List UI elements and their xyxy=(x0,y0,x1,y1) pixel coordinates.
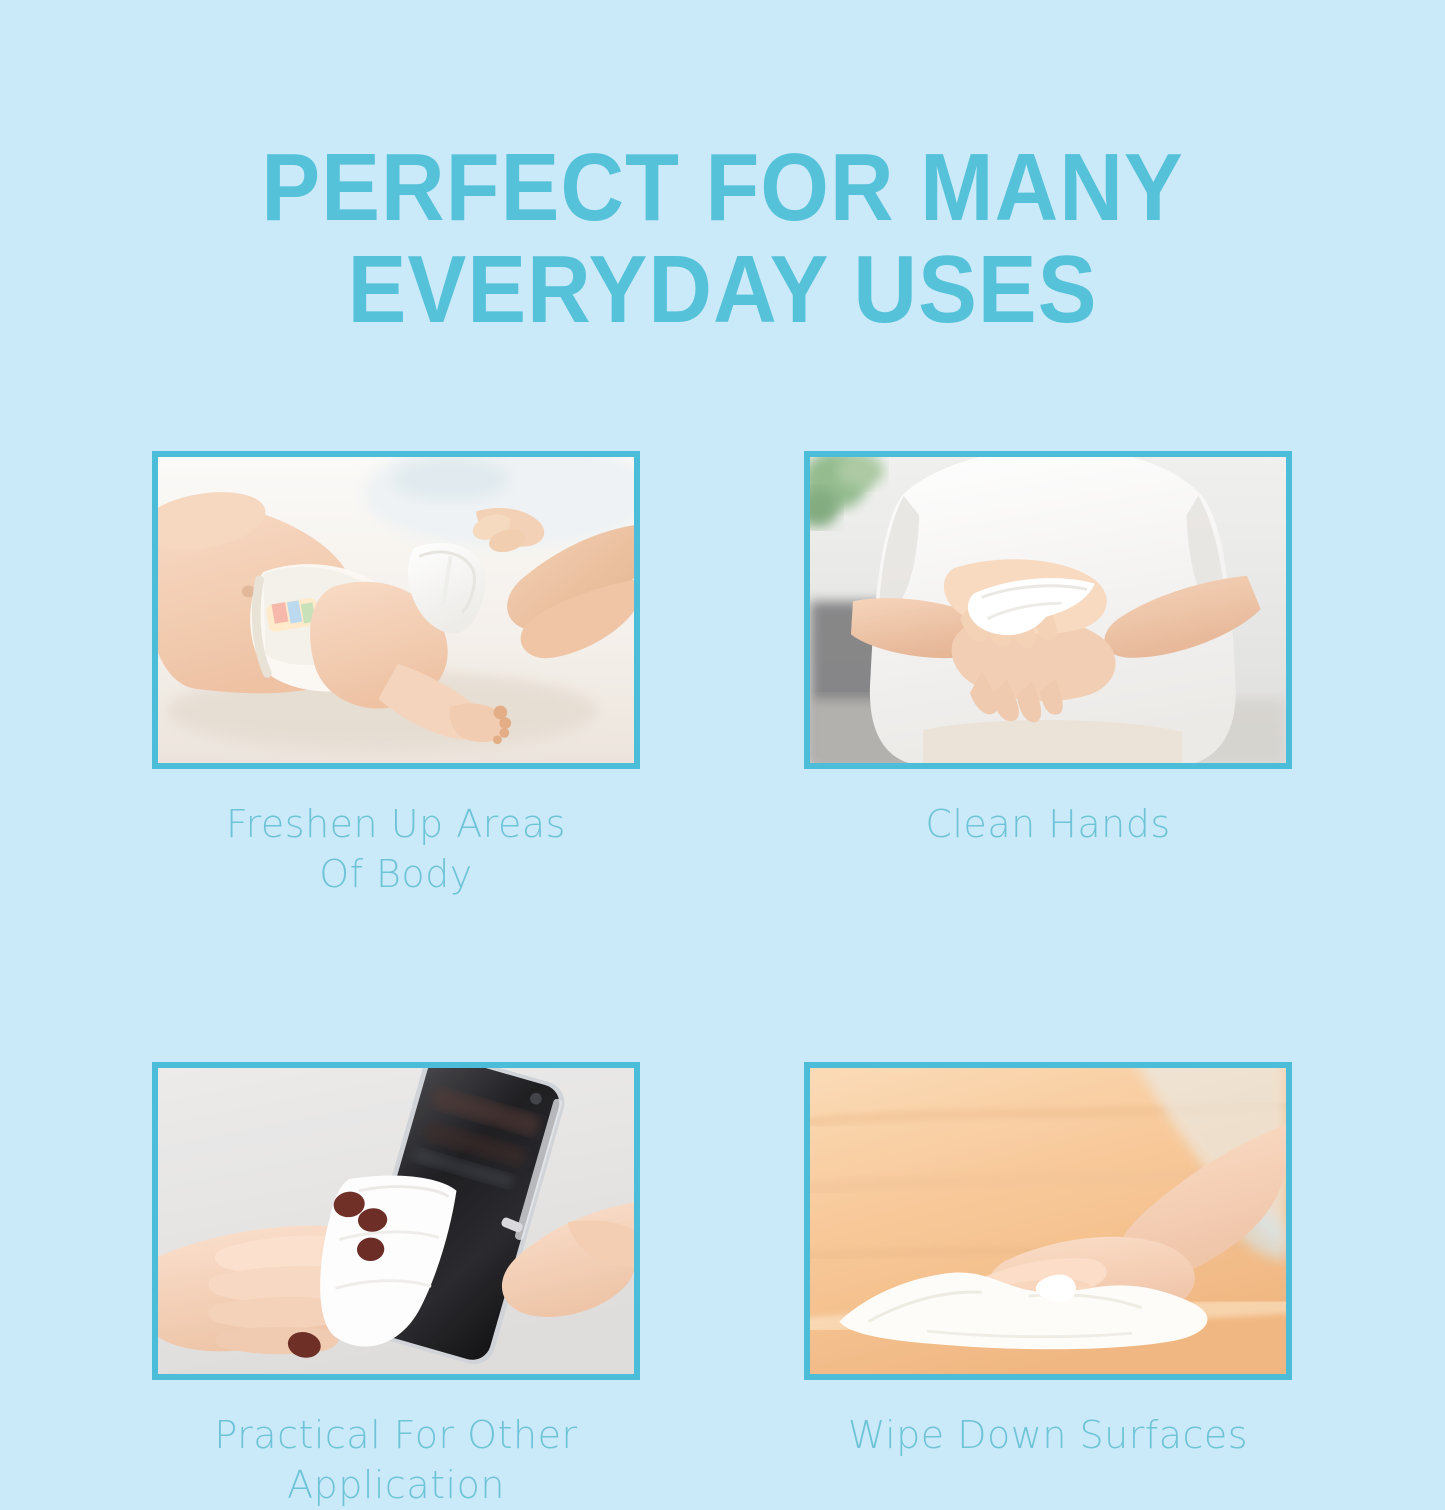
photo-frame xyxy=(804,451,1292,769)
page-title: PERFECT FOR MANY EVERYDAY USES xyxy=(58,140,1387,338)
use-case-card-wipe-surfaces: Wipe Down Surfaces xyxy=(804,1062,1292,1510)
photo-frame xyxy=(152,1062,640,1380)
baby-diaper-change-photo xyxy=(158,457,634,763)
use-case-card-practical: Practical For Other Application xyxy=(152,1062,640,1510)
wipe-table-surface-photo xyxy=(810,1068,1286,1374)
use-case-row-1: Freshen Up Areas Of Body xyxy=(152,451,1292,899)
use-case-grid: Freshen Up Areas Of Body xyxy=(152,451,1292,1510)
use-case-card-freshen-up: Freshen Up Areas Of Body xyxy=(152,451,640,899)
use-case-card-clean-hands: Clean Hands xyxy=(804,451,1292,899)
card-caption: Freshen Up Areas Of Body xyxy=(152,799,640,899)
headline-line-2: EVERYDAY USES xyxy=(58,242,1387,338)
headline-line-1: PERFECT FOR MANY xyxy=(58,140,1387,236)
wiping-smartphone-photo xyxy=(158,1068,634,1374)
clean-hands-photo xyxy=(810,457,1286,763)
infographic-page: PERFECT FOR MANY EVERYDAY USES xyxy=(0,0,1445,1445)
card-caption: Clean Hands xyxy=(804,799,1292,849)
photo-frame xyxy=(804,1062,1292,1380)
photo-frame xyxy=(152,451,640,769)
card-caption: Wipe Down Surfaces xyxy=(804,1410,1292,1460)
card-caption: Practical For Other Application xyxy=(152,1410,640,1510)
use-case-row-2: Practical For Other Application xyxy=(152,1062,1292,1510)
